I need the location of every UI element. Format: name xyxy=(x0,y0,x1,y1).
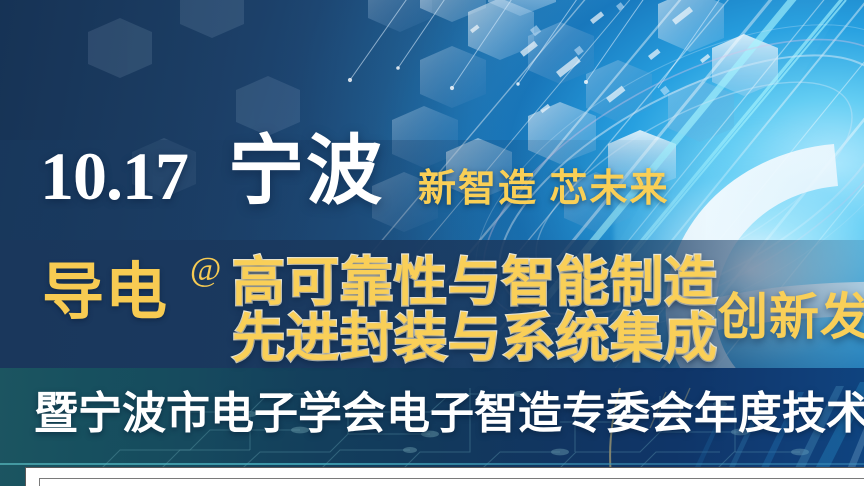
brand-name: 导电 xyxy=(42,262,168,324)
main-title-line-2: 先进封装与系统集成 xyxy=(232,312,718,365)
event-subtitle: 暨宁波市电子学会电子智造专委会年度技术交 xyxy=(34,392,864,436)
event-date: 10.17 xyxy=(40,142,188,210)
main-title-line-1: 高可靠性与智能制造 xyxy=(232,256,718,309)
event-slogan: 新智造 芯未来 xyxy=(418,170,670,208)
secondary-slogan: 创新发 xyxy=(718,292,864,342)
conference-banner: 10.17 宁波 新智造 芯未来 导电 @ 高可靠性与智能制造 先进封装与系统集… xyxy=(0,0,864,486)
event-city: 宁波 xyxy=(228,134,384,210)
at-symbol-icon: @ xyxy=(190,253,221,287)
bottom-white-panel xyxy=(25,467,864,486)
teal-divider-rule xyxy=(0,463,864,465)
bottom-white-panel-inner xyxy=(39,478,864,486)
